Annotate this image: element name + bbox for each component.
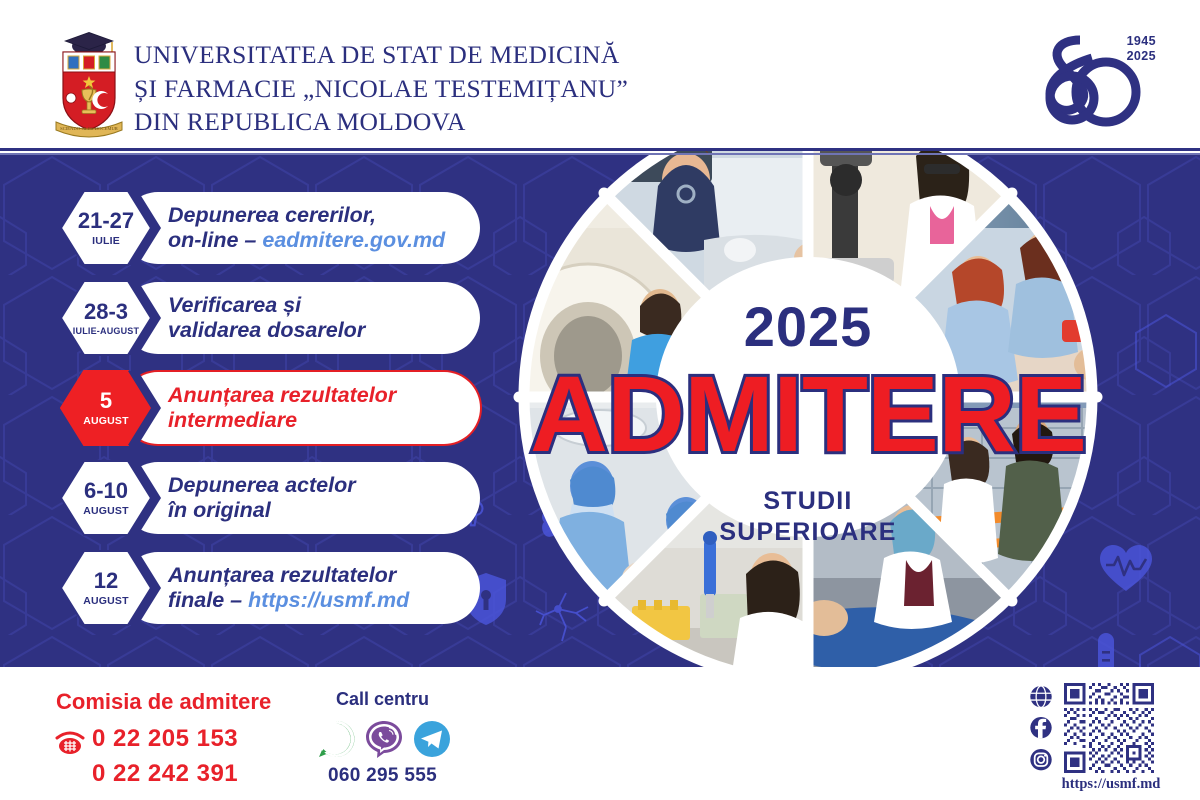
timeline-item-1-line-1: Depunerea cererilor, [168,203,480,228]
university-title-line-1: UNIVERSITATEA DE STAT DE MEDICINĂ [134,38,774,72]
call-center-number[interactable]: 060 295 555 [328,765,437,787]
commission-phone-2[interactable]: 0 22 242 391 [92,760,238,788]
hex-arrow-icon [60,280,168,356]
timeline-item-5[interactable]: Anunțarea rezultatelor finale – https://… [60,550,480,626]
header-divider-thick [0,148,1200,151]
header-divider-thin [0,153,1200,155]
anniversary-years: 1945 2025 [1127,34,1156,64]
timeline-item-3-pill: Anunțarea rezultatelor intermediare [122,372,480,444]
timeline-item-1-pill: Depunerea cererilor, on-line – eadmitere… [122,192,480,264]
whatsapp-icon[interactable] [316,719,356,759]
timeline-item-5-date-badge: 12 AUGUST [60,550,168,626]
telephone-icon [55,730,85,754]
timeline-item-1-link[interactable]: eadmitere.gov.md [262,228,445,252]
social-icons-row [316,719,466,759]
poster-footer: Comisia de admitere 0 22 205 153 0 22 24… [0,667,1200,800]
timeline-item-2-pill: Verificarea și validarea dosarelor [122,282,480,354]
link-icons [1024,685,1058,771]
timeline-item-2-date-badge: 28-3 IULIE-AUGUST [60,280,168,356]
timeline-item-1-date-badge: 21-27 IULIE [60,190,168,266]
svg-text:SCIENDO·ALIIS·DOCEMUR: SCIENDO·ALIIS·DOCEMUR [60,126,119,131]
hex-arrow-icon [60,370,168,446]
admission-poster: SCIENDO·ALIIS·DOCEMUR UNIVERSITATEA DE S… [0,0,1200,800]
timeline-item-1-prefix: on-line – [168,228,262,252]
timeline-item-3-line-1: Anunțarea rezultatelor [168,383,480,408]
hex-arrow-icon [60,550,168,626]
timeline-item-2-line-2: validarea dosarelor [168,318,480,343]
timeline-item-4-line-2: în original [168,498,480,523]
university-crest-icon: SCIENDO·ALIIS·DOCEMUR [52,26,126,138]
website-url[interactable]: https://usmf.md [1046,776,1176,793]
timeline-item-5-line-2: finale – https://usmf.md [168,588,480,613]
timeline-item-4-pill: Depunerea actelor în original [122,462,480,534]
timeline-item-5-pill: Anunțarea rezultatelor finale – https://… [122,552,480,624]
university-title: UNIVERSITATEA DE STAT DE MEDICINĂ ȘI FAR… [134,38,774,139]
timeline-item-1-line-2: on-line – eadmitere.gov.md [168,228,480,253]
timeline-item-1[interactable]: Depunerea cererilor, on-line – eadmitere… [60,190,480,266]
university-title-line-3: DIN REPUBLICA MOLDOVA [134,105,774,139]
timeline-item-3[interactable]: Anunțarea rezultatelor intermediare 5 AU… [60,370,480,446]
instagram-icon[interactable] [1029,748,1053,771]
poster-header: SCIENDO·ALIIS·DOCEMUR UNIVERSITATEA DE S… [0,0,1200,148]
university-title-line-2: ȘI FARMACIE „NICOLAE TESTEMIȚANU” [134,72,774,106]
admission-timeline: Depunerea cererilor, on-line – eadmitere… [60,190,480,640]
hex-arrow-icon [60,460,168,536]
collage-svg [472,108,1144,686]
anniversary-year-from: 1945 [1127,34,1156,49]
commission-title: Comisia de admitere [56,689,271,715]
hex-arrow-icon [60,190,168,266]
call-center-title: Call centru [336,689,429,710]
timeline-item-4-date-badge: 6-10 AUGUST [60,460,168,536]
facebook-icon[interactable] [1029,716,1053,739]
timeline-item-4[interactable]: Depunerea actelor în original 6-10 AUGUS… [60,460,480,536]
timeline-item-3-line-2: intermediare [168,408,480,433]
anniversary-logo: 1945 2025 [1020,18,1160,136]
viber-icon[interactable] [364,719,404,759]
photo-collage-circle: 2025 ADMITERE STUDII SUPERIOARE [472,108,1144,686]
globe-icon[interactable] [1029,685,1053,708]
telegram-icon[interactable] [412,719,452,759]
qr-code-icon[interactable] [1064,683,1154,773]
commission-phone-1[interactable]: 0 22 205 153 [92,725,238,753]
timeline-item-2-line-1: Verificarea și [168,293,480,318]
timeline-item-5-prefix: finale – [168,588,248,612]
timeline-item-4-line-1: Depunerea actelor [168,473,480,498]
timeline-item-5-line-1: Anunțarea rezultatelor [168,563,480,588]
timeline-item-3-date-badge: 5 AUGUST [60,370,168,446]
qr-block: https://usmf.md [1024,679,1174,791]
anniversary-year-to: 2025 [1127,49,1156,64]
timeline-item-5-link[interactable]: https://usmf.md [248,588,409,612]
timeline-item-2[interactable]: Verificarea și validarea dosarelor 28-3 … [60,280,480,356]
